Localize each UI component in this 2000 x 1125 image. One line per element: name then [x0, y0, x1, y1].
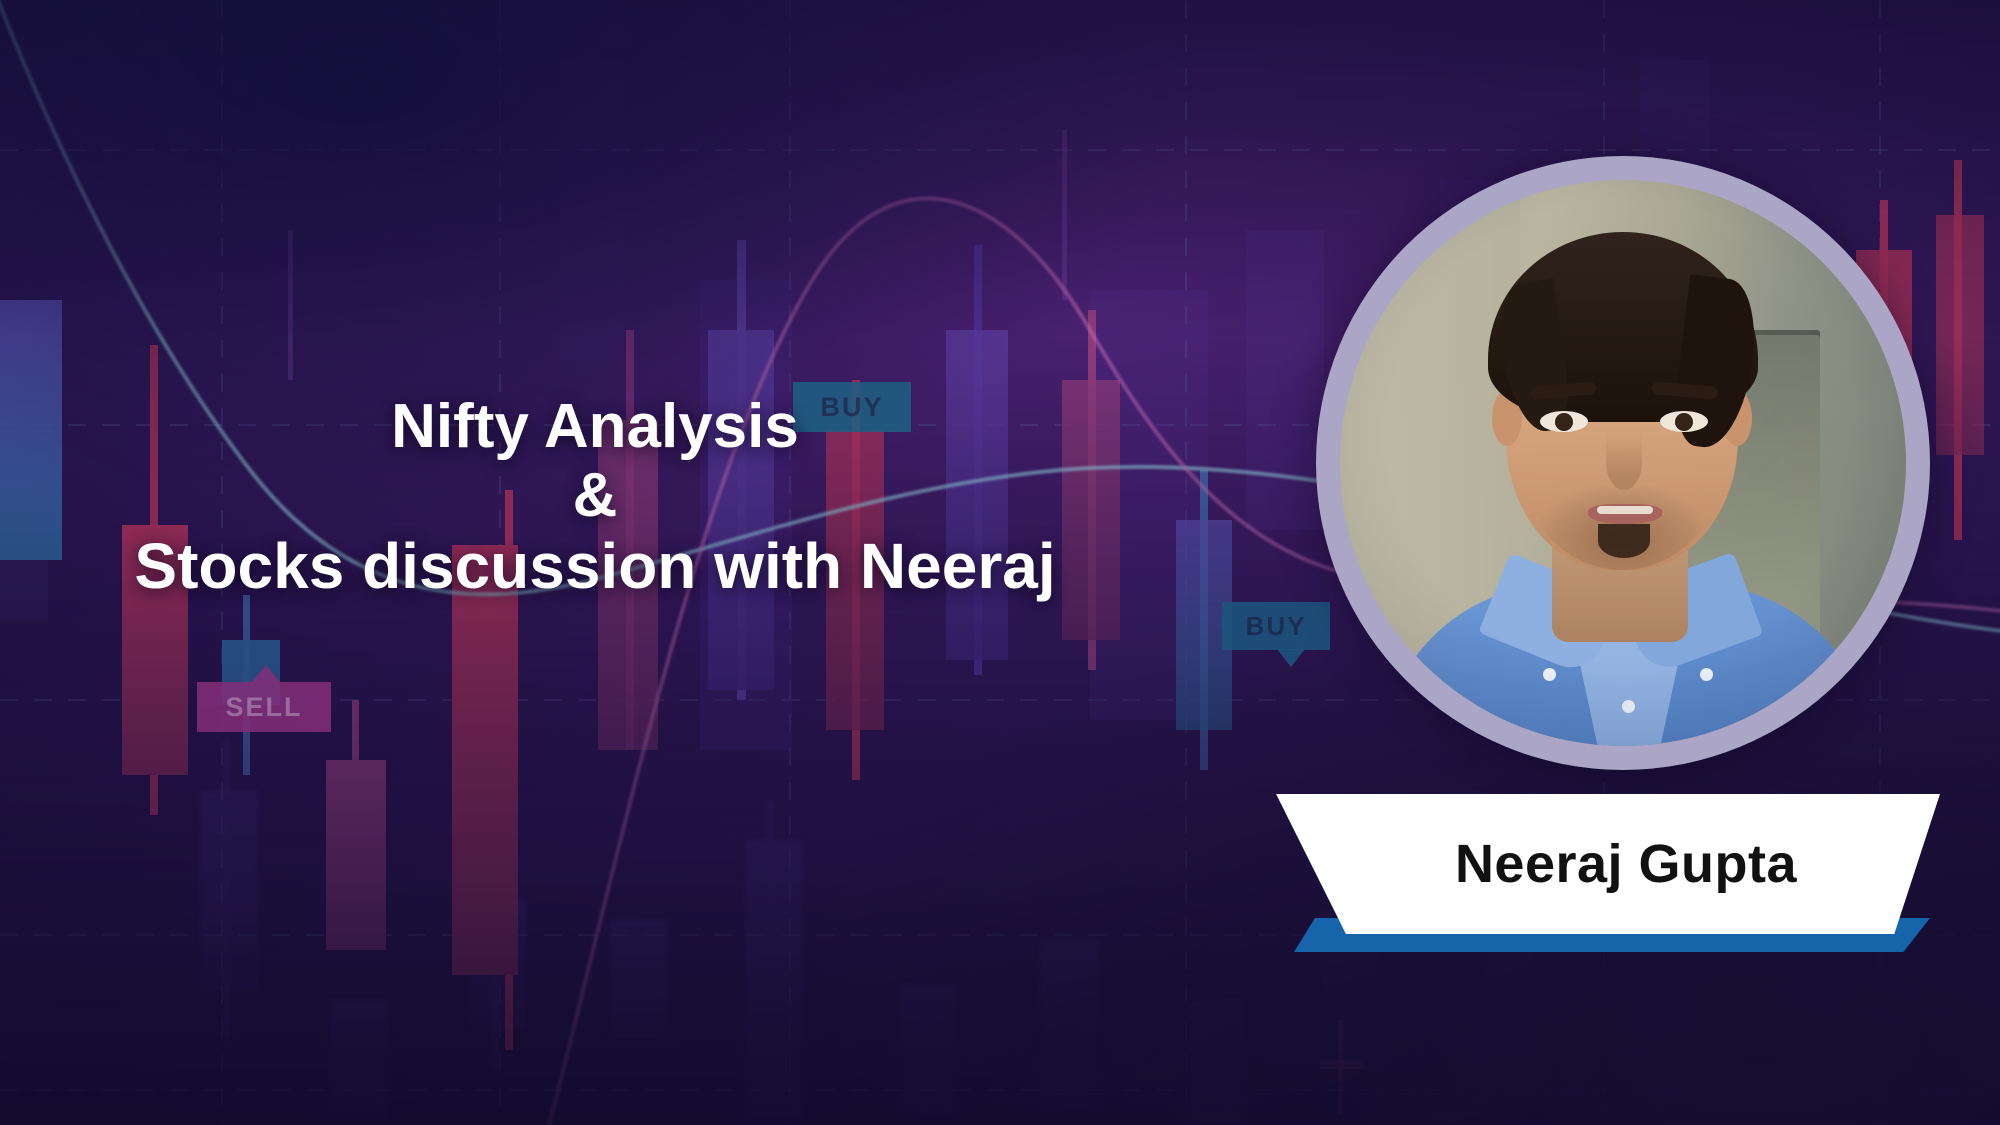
portrait-soft-shadow: [1340, 180, 1906, 746]
sell-tag: SELL: [197, 682, 331, 732]
buy-tag-lower-pointer-icon: [1277, 649, 1305, 667]
slide-title: Nifty Analysis & Stocks discussion with …: [0, 392, 1190, 603]
name-banner: Neeraj Gupta: [1268, 794, 1940, 934]
title-line-1: Nifty Analysis: [0, 392, 1190, 461]
speaker-portrait-photo: [1340, 180, 1906, 746]
sell-tag-pointer-icon: [251, 665, 281, 683]
title-line-3: Stocks discussion with Neeraj: [0, 531, 1190, 603]
buy-tag-lower-label: BUY: [1246, 611, 1307, 642]
slide-canvas: BUY BUY SELL Nifty Analysis & Stocks dis…: [0, 0, 2000, 1125]
title-line-2: &: [0, 461, 1190, 530]
speaker-name: Neeraj Gupta: [1455, 833, 1797, 895]
buy-tag-lower: BUY: [1222, 602, 1330, 650]
sell-tag-label: SELL: [225, 692, 302, 723]
speaker-portrait-ring: [1316, 156, 1930, 770]
